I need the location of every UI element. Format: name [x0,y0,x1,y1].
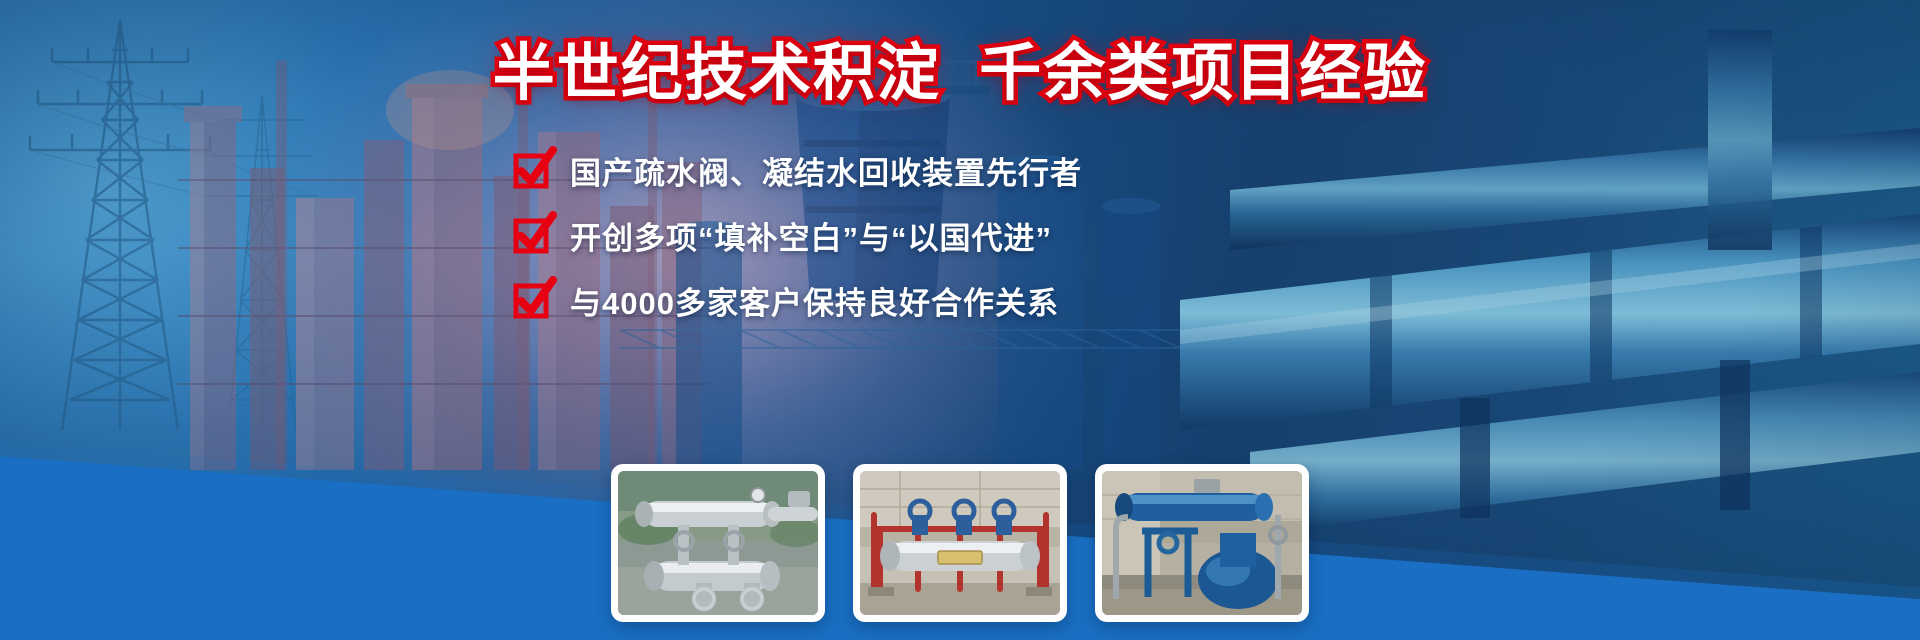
checkbox-checked-icon [514,284,548,318]
feature-text: 开创多项“填补空白”与“以国代进” [570,213,1052,258]
product-card[interactable] [853,464,1067,622]
condensate-recovery-unit-photo [860,471,1060,615]
checkbox-checked-icon [514,154,548,188]
banner-content: 半世纪技术积淀 千余类项目经验 国产疏水阀、凝结水回收装置先行者 [0,0,1920,640]
list-item: 国产疏水阀、凝结水回收装置先行者 [514,148,1082,193]
feature-text: 与4000多家客户保持良好合作关系 [570,278,1059,323]
page-title: 半世纪技术积淀 千余类项目经验 [0,40,1920,108]
feature-text: 国产疏水阀、凝结水回收装置先行者 [570,148,1082,193]
product-card[interactable] [611,464,825,622]
checkbox-checked-icon [514,219,548,253]
list-item: 开创多项“填补空白”与“以国代进” [514,213,1082,258]
product-card[interactable] [1095,464,1309,622]
steam-trap-station-photo [618,471,818,615]
promo-banner: 半世纪技术积淀 千余类项目经验 国产疏水阀、凝结水回收装置先行者 [0,0,1920,640]
list-item: 与4000多家客户保持良好合作关系 [514,278,1082,323]
feature-list: 国产疏水阀、凝结水回收装置先行者 开创多项“填补空白”与“以国代进” [514,148,1082,323]
product-photo-gallery [0,464,1920,622]
blue-pressure-vessel-photo [1102,471,1302,615]
